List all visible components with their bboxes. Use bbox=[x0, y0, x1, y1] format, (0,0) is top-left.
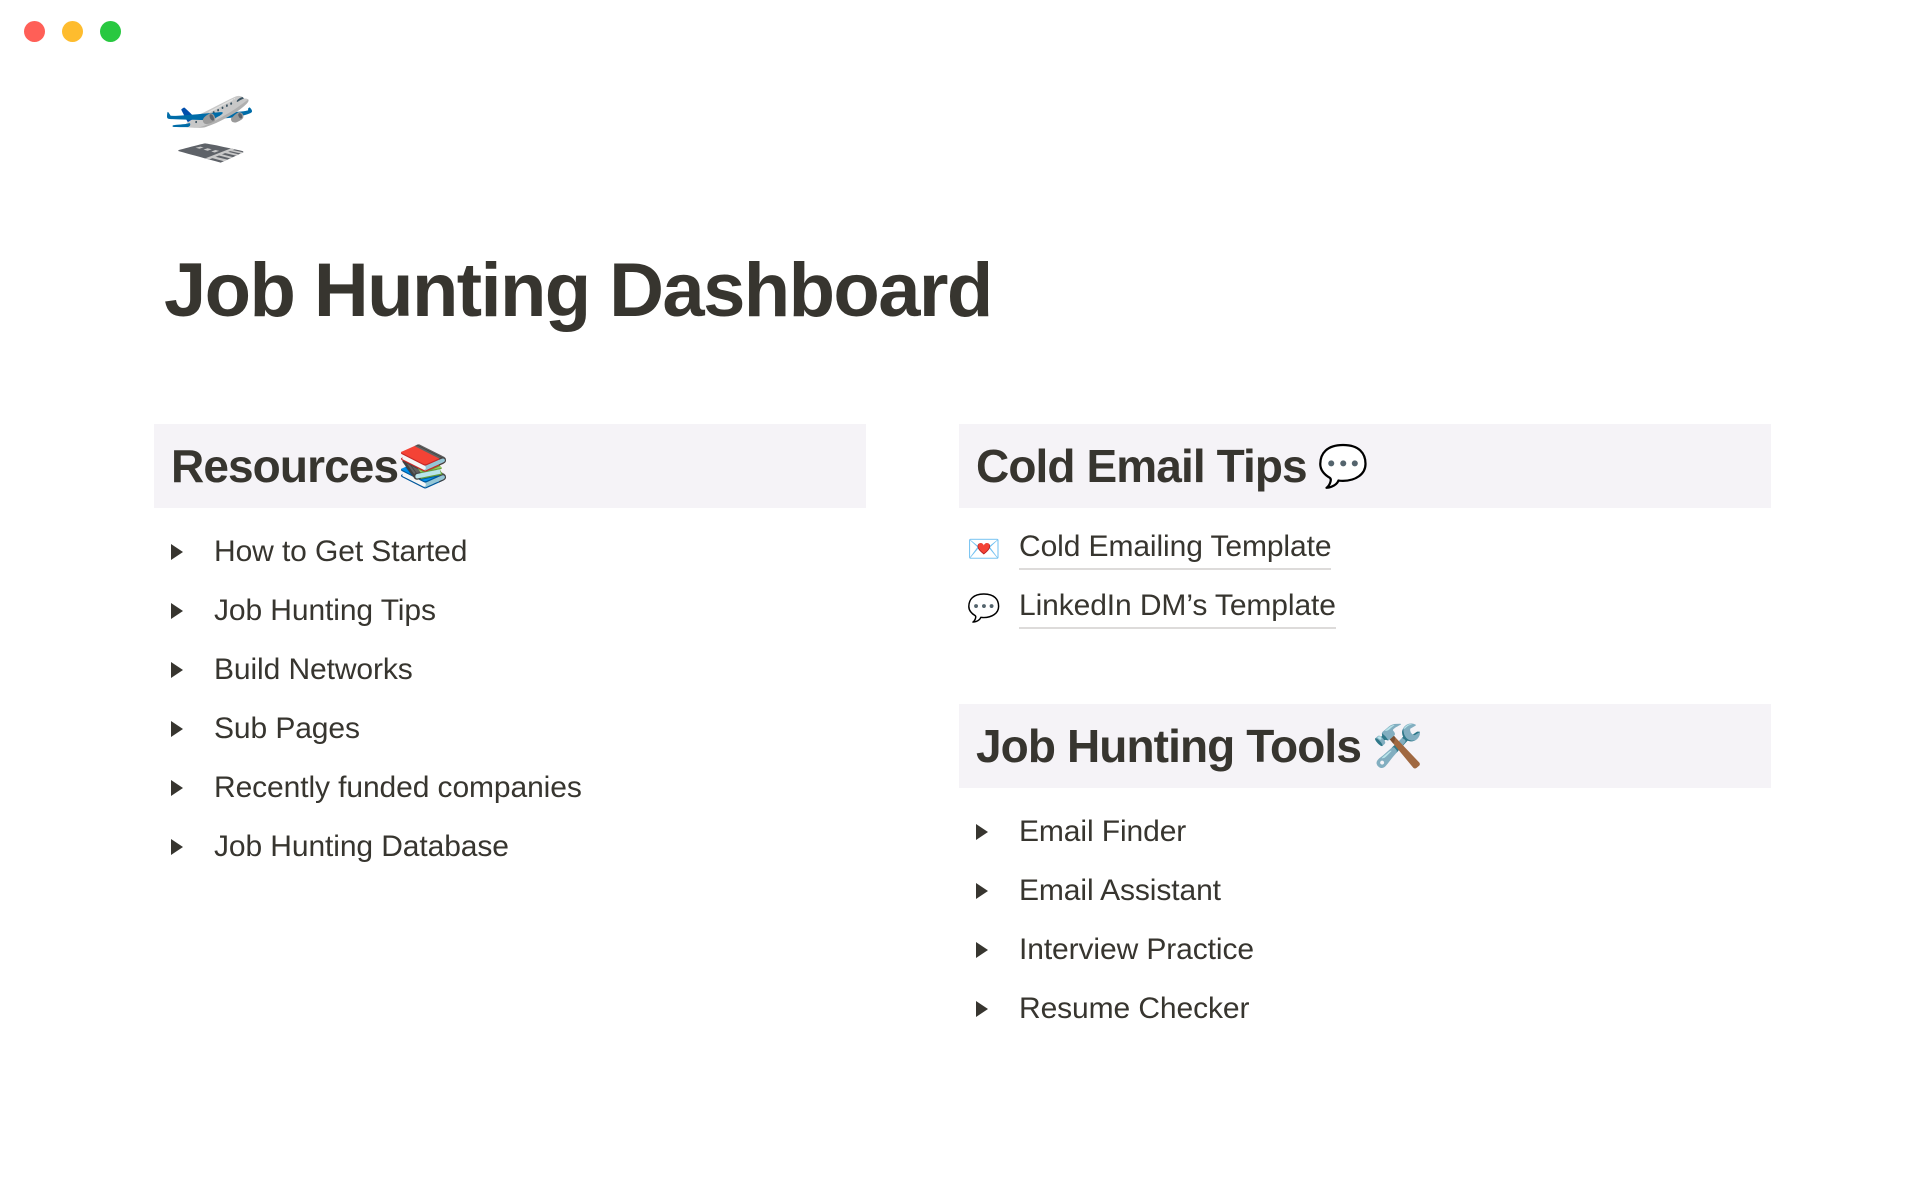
page-link-label[interactable]: Cold Emailing Template bbox=[1019, 529, 1331, 571]
toggle-item-label: How to Get Started bbox=[214, 537, 467, 567]
toggle-item-label: Sub Pages bbox=[214, 714, 360, 744]
cold-email-tips-heading-block: Cold Email Tips 💬 bbox=[959, 424, 1771, 508]
traffic-light-group bbox=[24, 21, 121, 42]
chevron-right-icon[interactable] bbox=[162, 602, 192, 620]
page-link-item[interactable]: 💌 Cold Emailing Template bbox=[959, 520, 1771, 579]
left-column: Resources 📚 How to Get Started Job Hunti… bbox=[154, 424, 866, 1038]
toggle-item-label: Email Assistant bbox=[1019, 876, 1221, 906]
toggle-item-label: Interview Practice bbox=[1019, 935, 1254, 965]
cold-email-tips-heading-label: Cold Email Tips bbox=[976, 443, 1307, 489]
page-link-item[interactable]: 💬 LinkedIn DM’s Template bbox=[959, 579, 1771, 638]
minimize-button[interactable] bbox=[62, 21, 83, 42]
toggle-item[interactable]: Recently funded companies bbox=[154, 758, 866, 817]
toggle-item-label: Job Hunting Tips bbox=[214, 596, 436, 626]
resources-heading-label: Resources bbox=[171, 443, 398, 489]
chevron-right-icon[interactable] bbox=[162, 720, 192, 738]
maximize-button[interactable] bbox=[100, 21, 121, 42]
books-icon: 📚 bbox=[398, 446, 449, 487]
toggle-item[interactable]: Build Networks bbox=[154, 640, 866, 699]
toggle-item-label: Recently funded companies bbox=[214, 773, 582, 803]
chevron-right-icon[interactable] bbox=[967, 941, 997, 959]
close-button[interactable] bbox=[24, 21, 45, 42]
airplane-departure-icon[interactable]: 🛫 bbox=[162, 84, 1820, 194]
job-hunting-tools-heading-block: Job Hunting Tools 🛠️ bbox=[959, 704, 1771, 788]
resources-toggle-list: How to Get Started Job Hunting Tips Buil… bbox=[154, 508, 866, 876]
page-content: 🛫 Job Hunting Dashboard Resources 📚 How … bbox=[0, 62, 1920, 1200]
toggle-item[interactable]: How to Get Started bbox=[154, 522, 866, 581]
job-hunting-tools-heading-label: Job Hunting Tools bbox=[976, 723, 1361, 769]
toggle-item[interactable]: Email Assistant bbox=[959, 861, 1771, 920]
toggle-item-label: Email Finder bbox=[1019, 817, 1186, 847]
resources-heading-block: Resources 📚 bbox=[154, 424, 866, 508]
chevron-right-icon[interactable] bbox=[162, 838, 192, 856]
chevron-right-icon[interactable] bbox=[162, 543, 192, 561]
chevron-right-icon[interactable] bbox=[162, 779, 192, 797]
chevron-right-icon[interactable] bbox=[967, 1000, 997, 1018]
speech-balloon-icon: 💬 bbox=[967, 595, 1001, 622]
love-letter-icon: 💌 bbox=[967, 536, 1001, 563]
chevron-right-icon[interactable] bbox=[967, 882, 997, 900]
column-divider bbox=[866, 424, 959, 1038]
toggle-item[interactable]: Interview Practice bbox=[959, 920, 1771, 979]
toggle-item[interactable]: Job Hunting Database bbox=[154, 817, 866, 876]
speech-balloon-icon: 💬 bbox=[1318, 446, 1369, 487]
toggle-item[interactable]: Sub Pages bbox=[154, 699, 866, 758]
toggle-item[interactable]: Email Finder bbox=[959, 802, 1771, 861]
toggle-item[interactable]: Job Hunting Tips bbox=[154, 581, 866, 640]
hammer-and-wrench-icon: 🛠️ bbox=[1372, 726, 1423, 767]
chevron-right-icon[interactable] bbox=[162, 661, 192, 679]
job-hunting-tools-toggle-list: Email Finder Email Assistant Interview P… bbox=[959, 788, 1771, 1038]
page-title[interactable]: Job Hunting Dashboard bbox=[164, 250, 1820, 332]
toggle-item-label: Job Hunting Database bbox=[214, 832, 509, 862]
cold-email-tips-link-list: 💌 Cold Emailing Template 💬 LinkedIn DM’s… bbox=[959, 508, 1771, 638]
section-spacer bbox=[959, 638, 1771, 704]
page-link-label[interactable]: LinkedIn DM’s Template bbox=[1019, 588, 1336, 630]
toggle-item-label: Resume Checker bbox=[1019, 994, 1249, 1024]
chevron-right-icon[interactable] bbox=[967, 823, 997, 841]
right-column: Cold Email Tips 💬 💌 Cold Emailing Templa… bbox=[959, 424, 1771, 1038]
window-titlebar bbox=[0, 0, 1920, 62]
column-layout: Resources 📚 How to Get Started Job Hunti… bbox=[154, 424, 1820, 1038]
toggle-item[interactable]: Resume Checker bbox=[959, 979, 1771, 1038]
toggle-item-label: Build Networks bbox=[214, 655, 413, 685]
